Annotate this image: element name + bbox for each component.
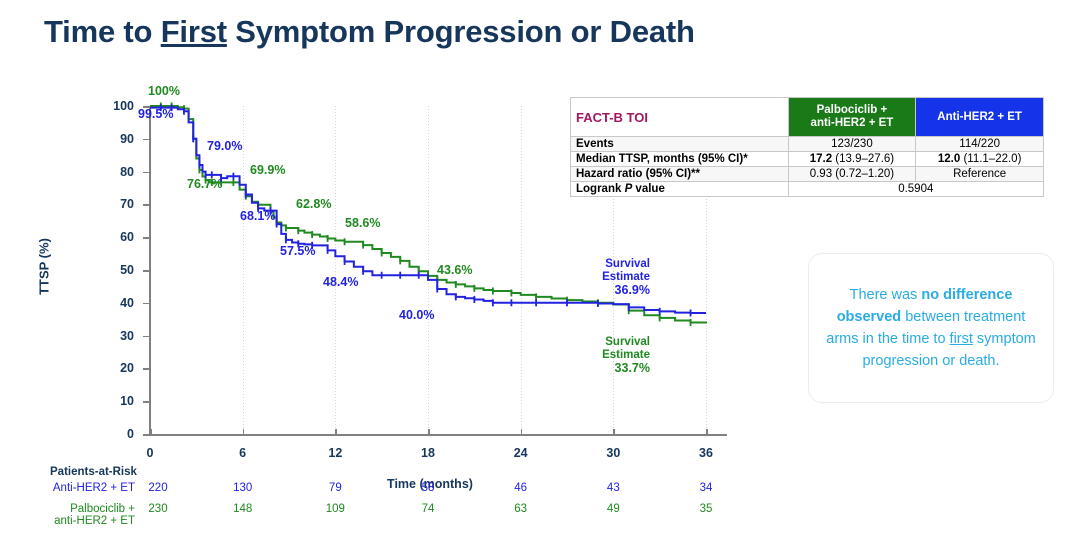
results-row-blue-value: 114/220 — [916, 137, 1044, 152]
y-tick-90 — [143, 139, 150, 141]
survival-green-line2: Estimate — [602, 349, 650, 361]
y-tick-60 — [143, 237, 150, 239]
results-table-header-row: FACT-B TOIPalbociclib +anti-HER2 + ETAnt… — [571, 98, 1044, 137]
y-tick-10 — [143, 401, 150, 403]
x-tick-label-0: 0 — [130, 446, 170, 460]
x-tick-0 — [150, 429, 152, 435]
y-tick-label-50: 50 — [100, 263, 134, 277]
x-tick-label-18: 18 — [408, 446, 448, 460]
x-tick-label-24: 24 — [501, 446, 541, 460]
y-tick-label-40: 40 — [100, 296, 134, 310]
results-table: FACT-B TOIPalbociclib +anti-HER2 + ETAnt… — [570, 97, 1044, 197]
risk-value: 46 — [501, 482, 541, 494]
results-table-title: FACT-B TOI — [571, 98, 789, 137]
y-tick-label-90: 90 — [100, 132, 134, 146]
results-row-green-value: 0.93 (0.72–1.20) — [788, 167, 916, 182]
y-tick-70 — [143, 204, 150, 206]
title-underlined-word: First — [161, 14, 227, 49]
page-title: Time to First Symptom Progression or Dea… — [44, 14, 695, 50]
results-table-row: Median TTSP, months (95% CI)*17.2 (13.9–… — [571, 152, 1044, 167]
y-tick-30 — [143, 336, 150, 338]
y-tick-80 — [143, 172, 150, 174]
y-tick-label-10: 10 — [100, 394, 134, 408]
gridline-x-12 — [335, 106, 336, 434]
results-table-row: Events123/230114/220 — [571, 137, 1044, 152]
results-row-green-value: 123/230 — [788, 137, 916, 152]
title-part-after: Symptom Progression or Death — [227, 14, 695, 49]
results-row-label: Logrank P value — [571, 182, 789, 197]
survival-blue-line2: Estimate — [602, 271, 650, 283]
survival-blue-value: 36.9% — [615, 283, 650, 297]
results-row-green-value: 17.2 (13.9–27.6) — [788, 152, 916, 167]
patients-at-risk-title: Patients-at-Risk — [50, 466, 137, 478]
pct-label-43.6: 43.6% — [437, 263, 472, 277]
x-tick-36 — [706, 429, 708, 435]
results-row-blue-value: 12.0 (11.1–22.0) — [916, 152, 1044, 167]
risk-row-label: Anti-HER2 + ET — [0, 482, 135, 494]
y-tick-label-100: 100 — [100, 99, 134, 113]
risk-value: 58 — [408, 482, 448, 494]
results-table-row: Hazard ratio (95% CI)**0.93 (0.72–1.20)R… — [571, 167, 1044, 182]
gridline-x-6 — [243, 106, 244, 434]
risk-value: 43 — [593, 482, 633, 494]
risk-value: 49 — [593, 503, 633, 515]
risk-row: Anti-HER2 + ET2201307958464334 — [0, 482, 760, 498]
callout-text: There was no difference observed between… — [823, 284, 1039, 372]
gridline-x-18 — [428, 106, 429, 434]
pct-label-69.9: 69.9% — [250, 163, 285, 177]
survival-blue-line1: Survival — [605, 258, 650, 270]
x-tick-label-6: 6 — [223, 446, 263, 460]
risk-row: Palbociclib +anti-HER2 + ET2301481097463… — [0, 503, 760, 519]
pct-label-40.0: 40.0% — [399, 308, 434, 322]
y-axis-title: TTSP (%) — [37, 217, 52, 317]
y-tick-label-0: 0 — [100, 427, 134, 441]
pct-label-57.5: 57.5% — [280, 244, 315, 258]
y-tick-label-70: 70 — [100, 197, 134, 211]
title-part-before: Time to — [44, 14, 161, 49]
pct-label-68.1: 68.1% — [240, 209, 275, 223]
risk-value: 148 — [223, 503, 263, 515]
survival-green-line1: Survival — [605, 336, 650, 348]
gridline-x-24 — [521, 106, 522, 434]
pct-label-76.7: 76.7% — [187, 177, 222, 191]
patients-at-risk-table: Patients-at-Risk Anti-HER2 + ET220130795… — [0, 466, 760, 536]
y-tick-label-30: 30 — [100, 329, 134, 343]
x-tick-6 — [243, 429, 245, 435]
y-tick-50 — [143, 270, 150, 272]
results-col-green-header: Palbociclib +anti-HER2 + ET — [788, 98, 916, 137]
risk-value: 34 — [686, 482, 726, 494]
risk-value: 35 — [686, 503, 726, 515]
y-tick-label-80: 80 — [100, 165, 134, 179]
results-row-label: Events — [571, 137, 789, 152]
pct-label-79.0: 79.0% — [207, 139, 242, 153]
results-row-label: Hazard ratio (95% CI)** — [571, 167, 789, 182]
pct-label-58.6: 58.6% — [345, 216, 380, 230]
y-tick-40 — [143, 303, 150, 305]
y-tick-label-20: 20 — [100, 361, 134, 375]
survival-estimate-green: Survival Estimate 33.7% — [530, 336, 650, 376]
x-tick-18 — [428, 429, 430, 435]
risk-value: 74 — [408, 503, 448, 515]
results-table-row: Logrank P value0.5904 — [571, 182, 1044, 197]
x-tick-label-30: 30 — [593, 446, 633, 460]
results-row-blue-value: Reference — [916, 167, 1044, 182]
risk-value: 63 — [501, 503, 541, 515]
x-tick-24 — [521, 429, 523, 435]
risk-value: 130 — [223, 482, 263, 494]
y-tick-label-60: 60 — [100, 230, 134, 244]
x-axis-line — [149, 434, 727, 436]
y-tick-0 — [143, 434, 150, 436]
callout-box: There was no difference observed between… — [808, 253, 1054, 403]
x-tick-label-36: 36 — [686, 446, 726, 460]
risk-value: 109 — [315, 503, 355, 515]
results-col-blue-header: Anti-HER2 + ET — [916, 98, 1044, 137]
survival-estimate-blue: Survival Estimate 36.9% — [530, 258, 650, 298]
slide-root: Time to First Symptom Progression or Dea… — [0, 0, 1080, 544]
risk-value: 220 — [138, 482, 178, 494]
pct-label-100: 100% — [148, 84, 180, 98]
risk-row-label: Palbociclib +anti-HER2 + ET — [0, 503, 135, 527]
pct-label-99.5: 99.5% — [138, 107, 173, 121]
y-tick-20 — [143, 368, 150, 370]
pct-label-62.8: 62.8% — [296, 197, 331, 211]
x-tick-label-12: 12 — [315, 446, 355, 460]
survival-green-value: 33.7% — [615, 361, 650, 375]
x-tick-30 — [613, 429, 615, 435]
x-tick-12 — [335, 429, 337, 435]
risk-value: 230 — [138, 503, 178, 515]
results-row-span-value: 0.5904 — [788, 182, 1043, 197]
results-row-label: Median TTSP, months (95% CI)* — [571, 152, 789, 167]
risk-value: 79 — [315, 482, 355, 494]
pct-label-48.4: 48.4% — [323, 275, 358, 289]
